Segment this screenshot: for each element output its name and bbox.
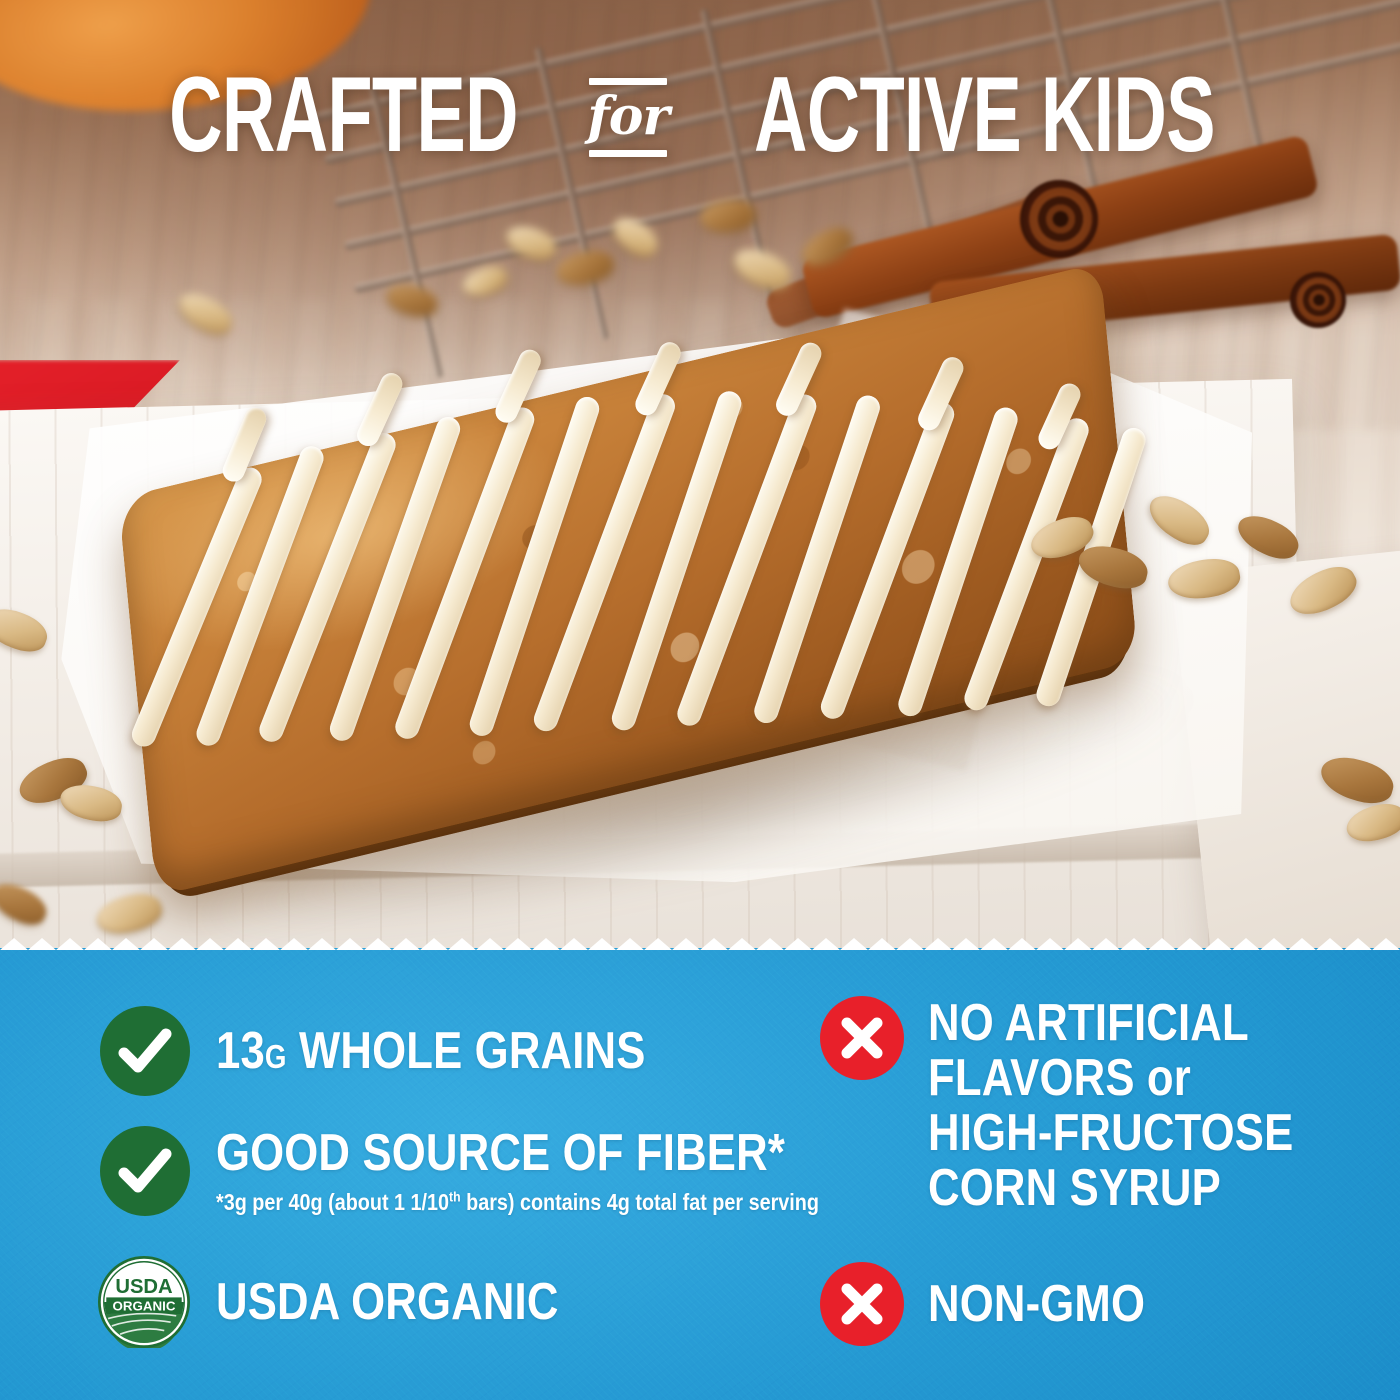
claim-usda-organic: USDA ORGANIC (98, 1256, 624, 1348)
fiber-footnote: *3g per 40g (about 1 1/10th bars) contai… (216, 1190, 819, 1215)
green-check-icon (100, 1006, 190, 1096)
cinnamon-swirl-icon (1020, 180, 1098, 258)
cinnamon-swirl-icon (1290, 272, 1346, 328)
product-photo (0, 0, 1400, 950)
granola-bar (106, 270, 1185, 926)
claim-fiber-label: GOOD SOURCE OF FIBER* (216, 1126, 805, 1180)
claim-non-gmo-label: NON-GMO (928, 1277, 1145, 1331)
usda-organic-seal-icon: USDA ORGANIC (98, 1256, 190, 1348)
claims-grid: 13G WHOLE GRAINS GOOD SOURCE OF FIBER* *… (0, 948, 1400, 1400)
claim-no-artificial-flavors: NO ARTIFICIAL FLAVORS or HIGH-FRUCTOSE C… (820, 996, 1363, 1216)
claims-column-left: 13G WHOLE GRAINS GOOD SOURCE OF FIBER* *… (86, 948, 786, 1400)
red-x-icon (820, 996, 904, 1080)
claim-fiber: GOOD SOURCE OF FIBER* *3g per 40g (about… (100, 1126, 917, 1216)
claim-non-gmo: NON-GMO (820, 1262, 1186, 1346)
product-marketing-image: CRAFTED for ACTIVE KIDS (0, 0, 1400, 1400)
green-check-icon (100, 1126, 190, 1216)
claim-usda-organic-label: USDA ORGANIC (216, 1275, 559, 1329)
svg-text:ORGANIC: ORGANIC (113, 1299, 176, 1314)
claim-whole-grains: 13G WHOLE GRAINS (100, 1006, 727, 1096)
red-x-icon (820, 1262, 904, 1346)
claim-no-artificial-text: NO ARTIFICIAL FLAVORS or HIGH-FRUCTOSE C… (928, 996, 1293, 1216)
claim-whole-grains-label: 13G WHOLE GRAINS (216, 1024, 646, 1078)
svg-text:USDA: USDA (115, 1276, 173, 1298)
icing-drizzle (106, 270, 1185, 926)
claims-panel: 13G WHOLE GRAINS GOOD SOURCE OF FIBER* *… (0, 948, 1400, 1400)
claims-column-right: NO ARTIFICIAL FLAVORS or HIGH-FRUCTOSE C… (812, 948, 1372, 1400)
